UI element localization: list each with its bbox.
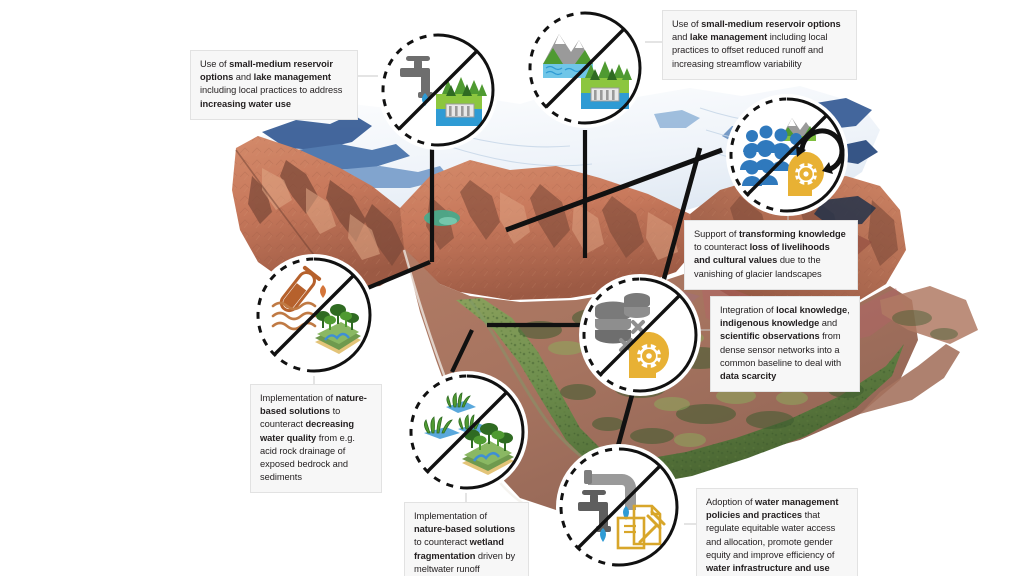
callout-water-management-policies: Adoption of water management policies an… [696,488,858,576]
callout-transforming-knowledge: Support of transforming knowledge to cou… [684,220,858,290]
callout-nbs-water-quality: Implementation of nature-based solutions… [250,384,382,493]
callout-reservoir-water-use: Use of small-medium reservoir options an… [190,50,358,120]
callout-nbs-wetland-fragmentation: Implementation of nature-based solutions… [404,502,529,576]
mountain-lake-dam-badge[interactable] [525,8,645,128]
infographic-canvas: Use of small-medium reservoir options an… [0,0,1024,576]
wetland-fragmentation-badge[interactable] [406,371,528,493]
pipe-policy-badge[interactable] [556,444,682,570]
callout-knowledge-integration: Integration of local knowledge, indigeno… [710,296,860,392]
callout-reservoir-runoff-variability: Use of small-medium reservoir options an… [662,10,857,80]
faucet-dam-badge[interactable] [378,30,498,150]
people-mountain-brain-badge[interactable] [726,94,848,216]
testtube-wetland-badge[interactable] [253,254,375,376]
data-scarcity-brain-badge[interactable] [579,274,701,396]
